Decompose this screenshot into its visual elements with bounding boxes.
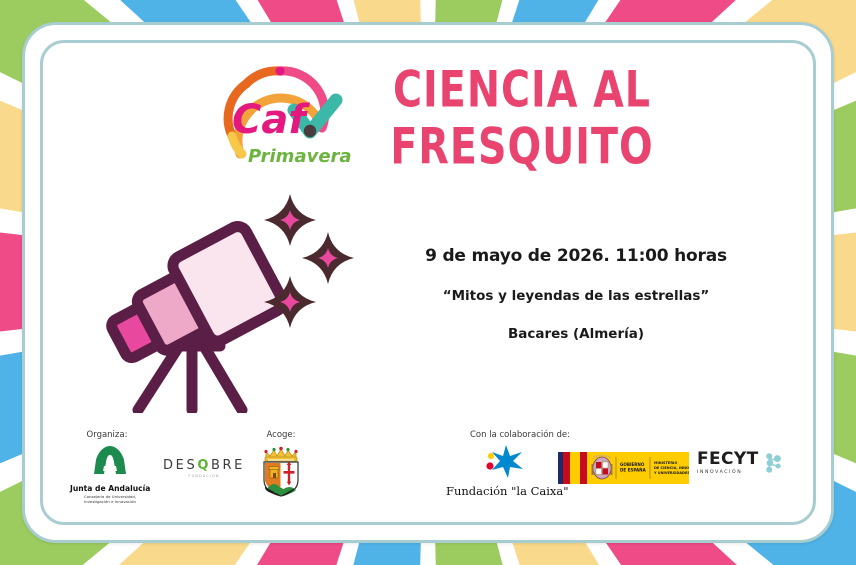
poster-title: CIENCIA AL FRESQUITO	[372, 62, 672, 175]
svg-text:Primavera: Primavera	[248, 146, 352, 167]
junta-name: Junta de Andalucía	[70, 484, 150, 493]
sparkle-star	[302, 232, 354, 284]
event-info: 9 de mayo de 2026. 11:00 horas “Mitos y …	[392, 246, 760, 342]
bacares-coat-of-arms	[256, 444, 306, 498]
la-caixa-star-icon	[446, 444, 566, 478]
sparkle-star	[264, 194, 316, 246]
fecyt-subtitle: INNOVACIÓN	[697, 470, 759, 475]
telescope-illustration	[78, 188, 378, 413]
gobierno-de-espana-logo: GOBIERNO DE ESPAÑA MINISTERIO DE CIENCIA…	[558, 452, 689, 484]
ministry-line-1: MINISTERIO	[654, 461, 677, 465]
junta-de-andalucia-logo: Junta de Andalucía Consejería de Univers…	[70, 444, 150, 505]
junta-a-mark	[70, 444, 150, 478]
desqbre-logo: DESQBRE FUNDACIÓN	[163, 458, 245, 478]
fecyt-word: FECYT	[697, 451, 759, 468]
la-caixa-name: Fundación "la Caixa"	[446, 484, 566, 498]
desqbre-part-1: DES	[163, 458, 197, 473]
fecyt-logo: FECYT INNOVACIÓN	[697, 450, 783, 486]
title-line-2: FRESQUITO	[372, 119, 672, 176]
organiza-label: Organiza:	[62, 430, 152, 440]
fecyt-molecule-icon	[764, 450, 783, 476]
event-subject: “Mitos y leyendas de las estrellas”	[392, 288, 760, 304]
fundacion-la-caixa-logo: Fundación "la Caixa"	[446, 444, 566, 498]
poster-canvas: Caf Primavera CIENCIA AL FRESQUITO	[0, 0, 856, 565]
event-place: Bacares (Almería)	[392, 326, 760, 342]
title-line-1: CIENCIA AL	[393, 61, 651, 119]
ministry-line-3: Y UNIVERSIDADES	[653, 471, 689, 475]
ministry-line-2: DE CIENCIA, INNOVACIÓN	[654, 465, 689, 470]
junta-department-line-2: Investigación e Innovación	[70, 499, 150, 504]
svg-text:Caf: Caf	[232, 97, 310, 143]
gobierno-line-1: GOBIERNO	[620, 462, 645, 467]
desqbre-subtitle: FUNDACIÓN	[163, 474, 245, 478]
event-date: 9 de mayo de 2026. 11:00 horas	[392, 246, 760, 266]
caf-primavera-logo: Caf Primavera	[210, 58, 375, 170]
colaboracion-label: Con la colaboración de:	[440, 430, 600, 440]
acoge-label: Acoge:	[236, 430, 326, 440]
desqbre-part-2: BRE	[211, 458, 245, 473]
desqbre-q-letter: Q	[197, 458, 211, 473]
gobierno-line-2: DE ESPAÑA	[620, 468, 647, 473]
